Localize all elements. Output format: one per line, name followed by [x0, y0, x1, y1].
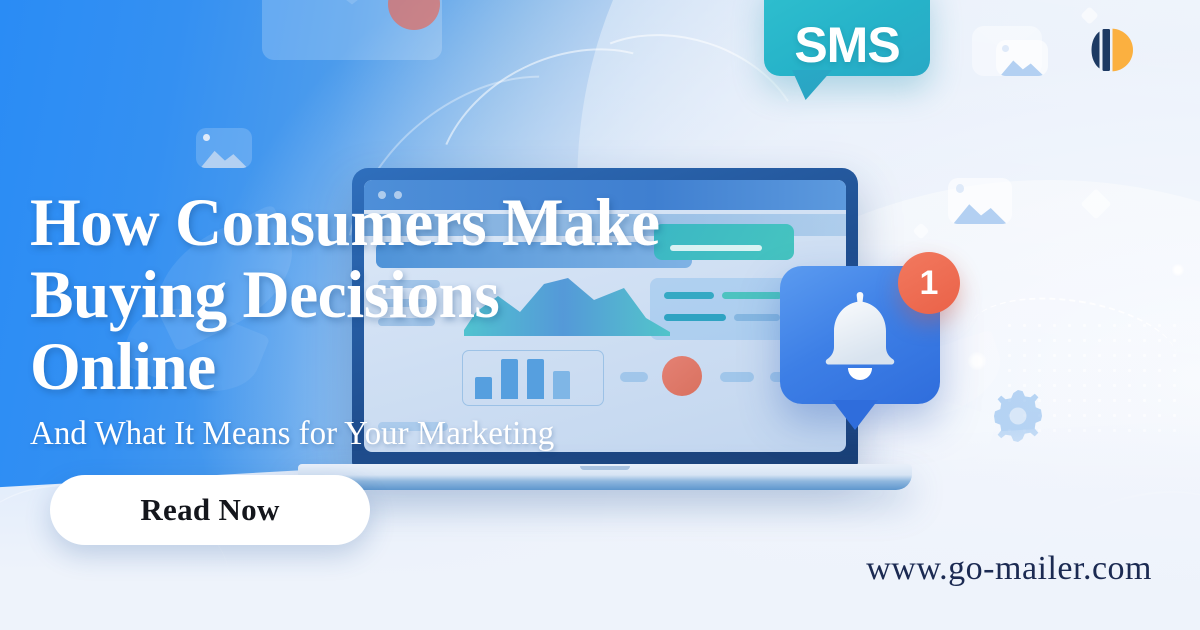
- sun-shape-icon: [1002, 45, 1009, 52]
- mountain-shape-icon: [953, 197, 1007, 224]
- image-placeholder-icon: [996, 40, 1048, 76]
- headline-line-2: Buying Decisions: [30, 258, 760, 330]
- headline-line-1: How Consumers Make: [30, 186, 760, 258]
- mountain-shape-icon: [200, 145, 247, 168]
- sms-chat-bubble-icon: SMS: [764, 0, 930, 76]
- notification-count: 1: [920, 266, 939, 300]
- mountain-shape-icon: [1000, 55, 1044, 76]
- image-placeholder-icon: [948, 178, 1012, 224]
- website-url: www.go-mailer.com: [866, 550, 1152, 588]
- sun-shape-icon: [956, 184, 964, 193]
- sun-shape-icon: [203, 134, 210, 142]
- headline-line-3: Online: [30, 330, 760, 402]
- read-now-button[interactable]: Read Now: [50, 475, 370, 545]
- glow-dot-decoration: [968, 352, 986, 370]
- subheadline: And What It Means for Your Marketing: [30, 414, 767, 454]
- notification-bell-card: 1: [780, 266, 940, 404]
- marketing-banner: SMS 1 How Consumers Make Buying Decision…: [0, 0, 1200, 630]
- notification-bell-icon: [808, 286, 912, 386]
- go-mailer-logo-icon[interactable]: [1085, 24, 1137, 76]
- image-placeholder-icon: [196, 128, 252, 168]
- sms-bubble-label: SMS: [794, 20, 899, 70]
- read-now-button-label: Read Now: [140, 492, 279, 528]
- page-title: How Consumers Make Buying Decisions Onli…: [30, 186, 760, 402]
- glow-dot-decoration: [1172, 264, 1184, 276]
- laptop-base: [298, 464, 912, 490]
- notification-count-badge: 1: [898, 252, 960, 314]
